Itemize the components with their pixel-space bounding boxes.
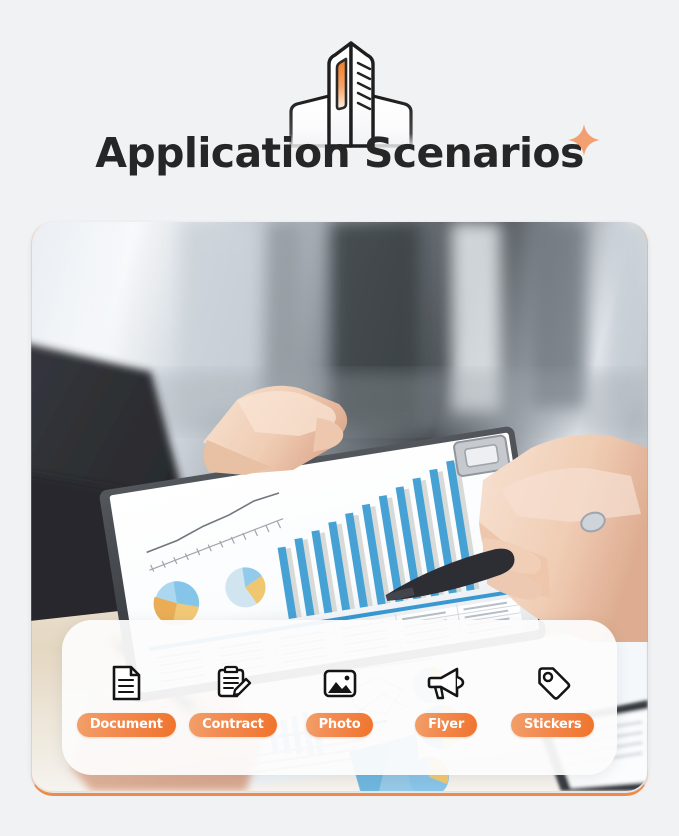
category-item-stickers[interactable]: Stickers bbox=[502, 658, 603, 737]
category-item-contract[interactable]: Contract bbox=[183, 658, 284, 737]
category-label-flyer[interactable]: Flyer bbox=[415, 713, 477, 737]
category-item-document[interactable]: Document bbox=[76, 658, 177, 737]
category-panel: Document Contract bbox=[62, 620, 617, 775]
tag-icon bbox=[532, 662, 574, 704]
clipboard-pencil-icon bbox=[212, 662, 254, 704]
image-icon bbox=[319, 662, 361, 704]
category-label-document[interactable]: Document bbox=[77, 713, 176, 737]
category-label-photo[interactable]: Photo bbox=[306, 713, 374, 737]
header: Application Scenarios bbox=[0, 0, 679, 212]
category-list: Document Contract bbox=[62, 620, 617, 775]
category-item-flyer[interactable]: Flyer bbox=[396, 658, 497, 737]
category-label-stickers[interactable]: Stickers bbox=[511, 713, 594, 737]
document-icon bbox=[105, 662, 147, 704]
scenario-card: Document Contract bbox=[31, 222, 648, 791]
category-label-contract[interactable]: Contract bbox=[189, 713, 276, 737]
page-title: Application Scenarios bbox=[95, 126, 584, 180]
sparkle-icon bbox=[566, 122, 602, 158]
megaphone-icon bbox=[425, 662, 467, 704]
category-item-photo[interactable]: Photo bbox=[289, 658, 390, 737]
